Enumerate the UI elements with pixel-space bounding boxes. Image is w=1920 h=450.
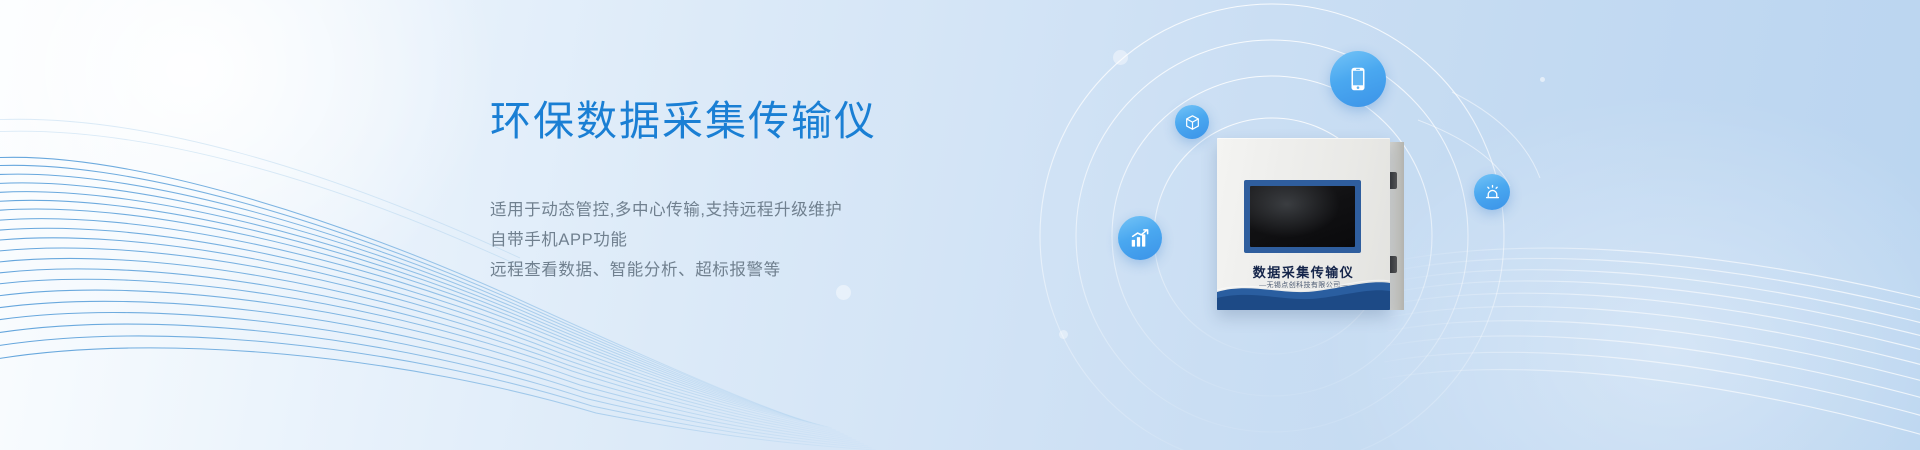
decorative-bubble: [836, 285, 851, 300]
product-hero-banner: 环保数据采集传输仪 适用于动态管控,多中心传输,支持远程升级维护 自带手机APP…: [0, 0, 1920, 450]
mobile-phone-icon: [1345, 66, 1371, 92]
device-screen: [1250, 186, 1355, 247]
bar-chart-up-icon: [1129, 227, 1151, 249]
device-side-panel: [1390, 142, 1404, 310]
decorative-bubble: [1113, 50, 1128, 65]
feature-line-1: 适用于动态管控,多中心传输,支持远程升级维护: [490, 195, 1130, 225]
device-screen-bezel: [1244, 180, 1361, 253]
alarm-light-icon: [1483, 183, 1502, 202]
bottom-right-glow: [1320, 90, 1920, 450]
page-title: 环保数据采集传输仪: [490, 96, 1130, 147]
device-bottom-wave: [1217, 276, 1390, 310]
feature-line-2: 自带手机APP功能: [490, 225, 1130, 255]
product-device-image: 数据采集传输仪 —无锡点创科技有限公司—: [1217, 138, 1410, 310]
hero-copy: 环保数据采集传输仪 适用于动态管控,多中心传输,支持远程升级维护 自带手机APP…: [490, 96, 1130, 285]
badge-alarm[interactable]: [1474, 174, 1510, 210]
badge-data-analysis[interactable]: [1118, 216, 1162, 260]
decorative-bubble: [1540, 77, 1545, 82]
sweep-lines: [1418, 92, 1540, 186]
right-ribbon-streaks: [1382, 248, 1920, 437]
feature-line-3: 远程查看数据、智能分析、超标报警等: [490, 255, 1130, 285]
badge-device-module[interactable]: [1175, 105, 1209, 139]
badge-mobile-app[interactable]: [1330, 51, 1386, 107]
feature-list: 适用于动态管控,多中心传输,支持远程升级维护 自带手机APP功能 远程查看数据、…: [490, 195, 1130, 285]
device-front-panel: 数据采集传输仪 —无锡点创科技有限公司—: [1217, 138, 1390, 310]
decorative-bubble: [1059, 330, 1068, 339]
cube-box-icon: [1184, 114, 1201, 131]
top-left-arcs: [0, 119, 524, 268]
top-left-glow: [0, 0, 500, 330]
